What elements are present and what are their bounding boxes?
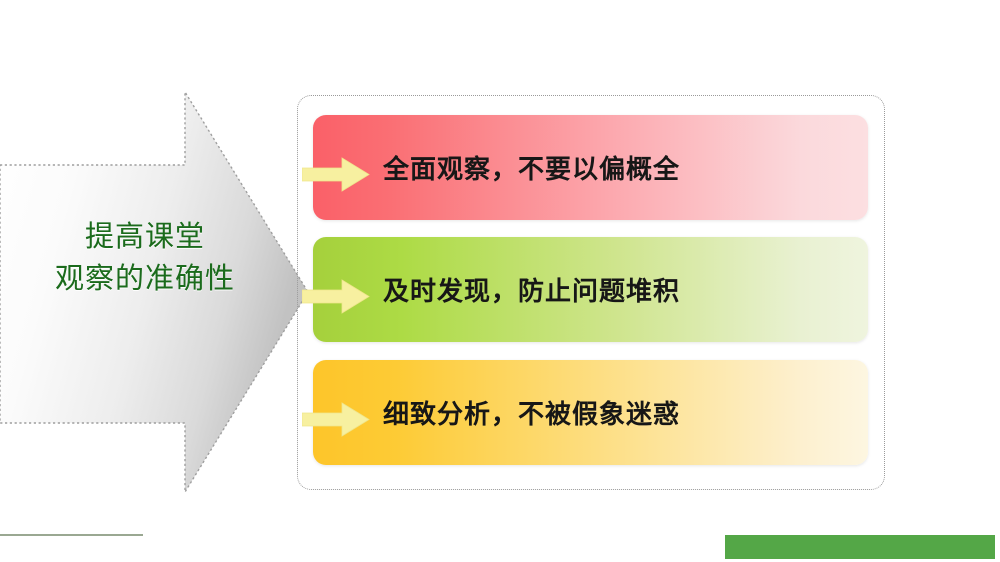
list-item-label: 全面观察，不要以偏概全 xyxy=(383,115,680,220)
list-item-label: 细致分析，不被假象迷惑 xyxy=(383,360,680,465)
right-arrow-icon xyxy=(302,402,370,437)
list-item[interactable]: 及时发现，防止问题堆积 xyxy=(313,237,868,342)
right-arrow-icon xyxy=(302,279,370,314)
process-arrow-label: 提高课堂 观察的准确性 xyxy=(10,215,280,299)
footer-accent-bar xyxy=(725,535,995,559)
slide-canvas: 提高课堂 观察的准确性 全面观察，不要以偏概全 及时发现，防止问题堆积 细致分析… xyxy=(0,0,1000,562)
footer-rule xyxy=(0,534,143,536)
list-item-label: 及时发现，防止问题堆积 xyxy=(383,237,680,342)
list-item[interactable]: 全面观察，不要以偏概全 xyxy=(313,115,868,220)
list-item[interactable]: 细致分析，不被假象迷惑 xyxy=(313,360,868,465)
right-arrow-icon xyxy=(302,157,370,192)
